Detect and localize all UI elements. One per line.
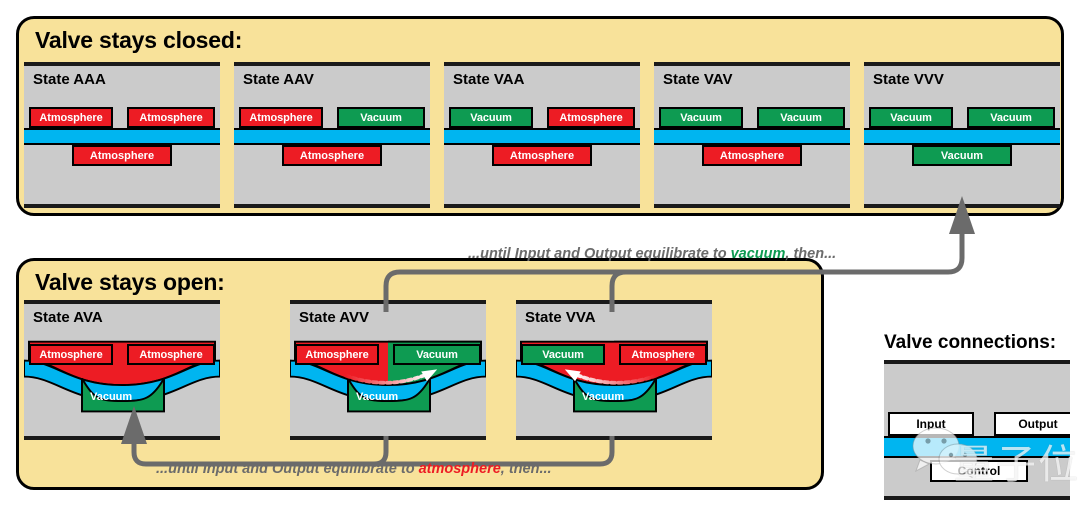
chamber-control: Atmosphere [492, 145, 592, 166]
chamber-control: Vacuum [912, 145, 1012, 166]
chamber-output: Vacuum [967, 107, 1055, 128]
membrane [444, 128, 640, 145]
chamber-control: Atmosphere [72, 145, 172, 166]
state-panel-title: State AVV [299, 309, 369, 326]
valve-connections-legend: Valve connections: Input Output Control [884, 332, 1070, 500]
state-panel-ava: State AVAAtmosphereAtmosphereVacuum [24, 300, 220, 440]
annotation-bottom-prefix: ...until Input and Output equilibrate to [156, 461, 419, 477]
annotation-top-prefix: ...until Input and Output equilibrate to [468, 246, 731, 262]
chamber-output: Vacuum [337, 107, 425, 128]
legend-membrane [884, 436, 1070, 458]
state-panel-aav: State AAVAtmosphereVacuumAtmosphere [234, 62, 430, 208]
annotation-top-highlight: vacuum [731, 246, 786, 262]
state-panel-title: State VVA [525, 309, 596, 326]
chamber-control-label: Vacuum [90, 391, 132, 403]
legend-port-control: Control [930, 460, 1028, 482]
chamber-output: Vacuum [757, 107, 845, 128]
chamber-control-label: Vacuum [356, 391, 398, 403]
legend-title: Valve connections: [884, 332, 1056, 354]
legend-port-output: Output [994, 412, 1070, 436]
state-panel-vvv: State VVVVacuumVacuumVacuum [864, 62, 1060, 208]
state-panel-aaa: State AAAAtmosphereAtmosphereAtmosphere [24, 62, 220, 208]
chamber-output: Atmosphere [127, 107, 215, 128]
chamber-output: Atmosphere [619, 344, 707, 365]
state-panel-title: State VVV [873, 71, 944, 88]
membrane [234, 128, 430, 145]
legend-panel: Input Output Control [884, 360, 1070, 500]
membrane [864, 128, 1060, 145]
state-panel-vav: State VAVVacuumVacuumAtmosphere [654, 62, 850, 208]
membrane [654, 128, 850, 145]
annotation-equilibrate-vacuum: ...until Input and Output equilibrate to… [468, 246, 836, 262]
chamber-input: Atmosphere [29, 107, 113, 128]
annotation-bottom-suffix: , then... [501, 461, 552, 477]
annotation-top-suffix: , then... [785, 246, 836, 262]
membrane [24, 128, 220, 145]
chamber-control: Atmosphere [282, 145, 382, 166]
chamber-input: Atmosphere [29, 344, 113, 365]
chamber-output: Atmosphere [547, 107, 635, 128]
chamber-input: Vacuum [521, 344, 605, 365]
state-panel-title: State VAV [663, 71, 732, 88]
state-panel-title: State AAA [33, 71, 106, 88]
chamber-input: Vacuum [449, 107, 533, 128]
legend-port-input: Input [888, 412, 974, 436]
annotation-bottom-highlight: atmosphere [419, 461, 501, 477]
state-panel-avv: State AVVAtmosphereVacuumVacuum [290, 300, 486, 440]
chamber-input: Vacuum [659, 107, 743, 128]
state-panel-vaa: State VAAVacuumAtmosphereAtmosphere [444, 62, 640, 208]
chamber-output: Vacuum [393, 344, 481, 365]
chamber-input: Atmosphere [239, 107, 323, 128]
chamber-input: Atmosphere [295, 344, 379, 365]
chamber-output: Atmosphere [127, 344, 215, 365]
chamber-control-label: Vacuum [582, 391, 624, 403]
state-panel-title: State VAA [453, 71, 524, 88]
annotation-equilibrate-atmosphere: ...until Input and Output equilibrate to… [156, 461, 552, 477]
state-panel-title: State AAV [243, 71, 314, 88]
state-panel-title: State AVA [33, 309, 103, 326]
chamber-input: Vacuum [869, 107, 953, 128]
valve-open-title: Valve stays open: [35, 269, 225, 296]
valve-closed-title: Valve stays closed: [35, 27, 242, 54]
chamber-control: Atmosphere [702, 145, 802, 166]
state-panel-vva: State VVAVacuumAtmosphereVacuum [516, 300, 712, 440]
